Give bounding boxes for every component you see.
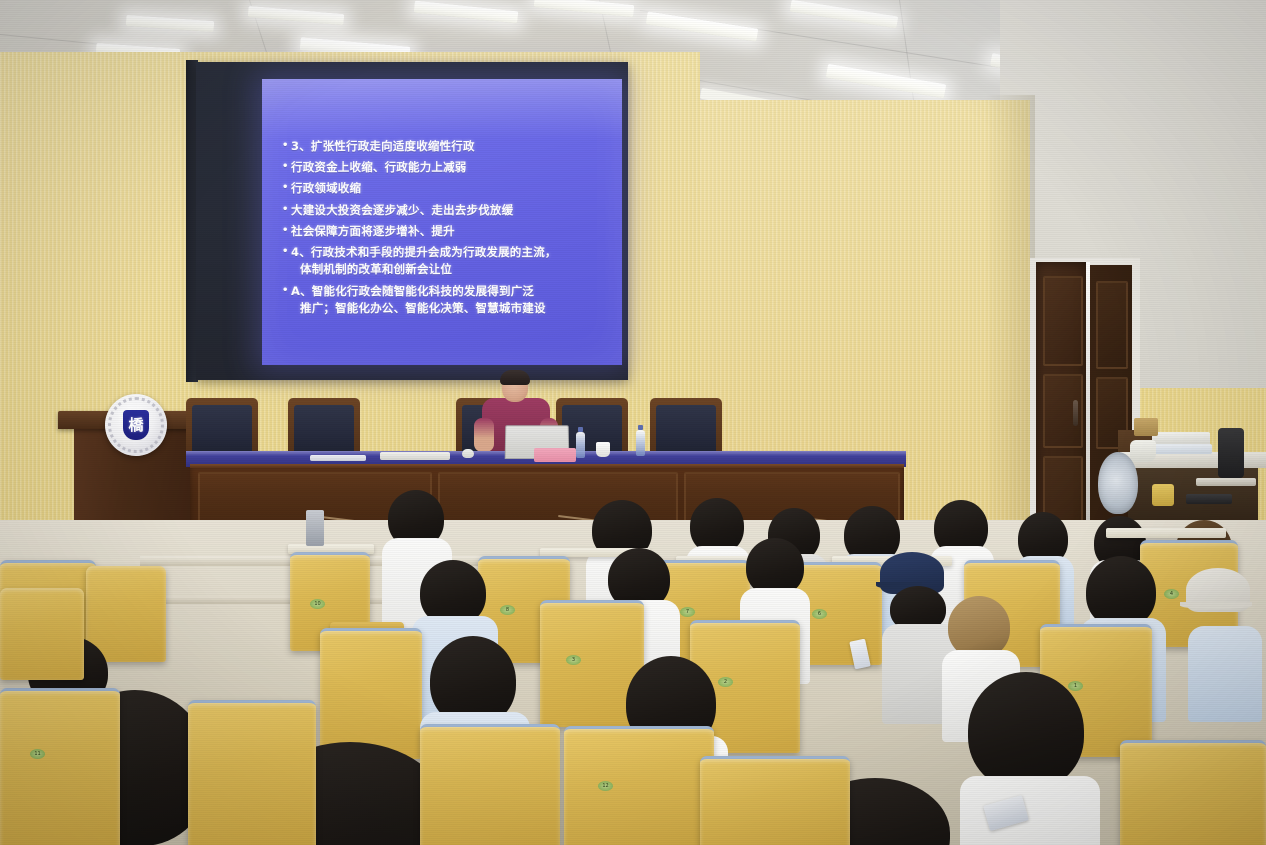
slide-bullet: • 大建设大投资会逐步减少、走出去步伐放缓 <box>282 203 614 218</box>
shelf-item <box>1186 494 1232 504</box>
wall-corner-shadow <box>985 95 1035 525</box>
bullet-dot-icon: • <box>282 284 291 299</box>
seat-number-sticker: 2 <box>718 677 733 687</box>
seat-number-sticker: 3 <box>566 655 581 665</box>
lecture-hall-photo: • 3、扩张性行政走向适度收缩性行政 • 行政资金上收缩、行政能力上减弱 • 行… <box>0 0 1266 845</box>
desk-paper <box>380 452 450 460</box>
university-emblem: 橋 <box>105 394 167 456</box>
torso <box>960 776 1100 845</box>
door-handle[interactable] <box>1073 400 1078 426</box>
auditorium-seat: 12 <box>564 726 714 845</box>
auditorium-seat <box>0 588 84 680</box>
floor-fan <box>1098 452 1138 514</box>
slide-bullet-continuation: • 推广；智能化办公、智能化决策、智慧城市建设 <box>282 301 614 316</box>
desk-monitor <box>306 510 324 546</box>
bullet-dot-icon: • <box>282 245 291 260</box>
auditorium-seat: 11 <box>0 688 120 845</box>
seat-desk <box>1106 528 1226 538</box>
seat-number-sticker: 6 <box>812 609 827 619</box>
speaker-arm-left <box>474 418 494 452</box>
auditorium-seat <box>1120 740 1266 845</box>
torso <box>1188 626 1262 722</box>
emblem-ring: 橋 <box>108 397 164 453</box>
door-panel <box>1096 281 1128 369</box>
bullet-dot-icon: • <box>282 224 291 239</box>
seat-number-sticker: 11 <box>30 749 45 759</box>
slide-content: • 3、扩张性行政走向适度收缩性行政 • 行政资金上收缩、行政能力上减弱 • 行… <box>282 139 614 322</box>
slide-bullet: • A、智能化行政会随智能化科技的发展得到广泛 <box>282 284 614 299</box>
slide-bullet: • 3、扩张性行政走向适度收缩性行政 <box>282 139 614 154</box>
seat-number-sticker: 8 <box>500 605 515 615</box>
seat-number-sticker: 1 <box>1068 681 1083 691</box>
pink-notebook <box>534 448 576 462</box>
hat-brim <box>1180 602 1252 609</box>
seat-number-sticker: 4 <box>1164 589 1179 599</box>
bullet-dot-icon: • <box>282 139 291 154</box>
seat-number-sticker: 10 <box>310 599 325 609</box>
computer-mouse[interactable] <box>462 449 474 458</box>
auditorium-seat <box>188 700 316 845</box>
door-gap-light <box>1086 262 1090 558</box>
audio-speaker-box <box>1218 428 1244 478</box>
projection-screen: • 3、扩张性行政走向适度收缩性行政 • 行政资金上收缩、行政能力上减弱 • 行… <box>262 79 622 365</box>
slide-bullet-continuation: • 体制机制的改革和创新会让位 <box>282 262 614 277</box>
head-hair <box>948 596 1010 658</box>
seat-number-sticker: 7 <box>680 607 695 617</box>
seat-number-sticker: 12 <box>598 781 613 791</box>
paper-cup <box>596 442 610 457</box>
slide-bullet: • 行政领域收缩 <box>282 181 614 196</box>
emblem-shield: 橋 <box>123 410 149 440</box>
slide-bullet: • 行政资金上收缩、行政能力上减弱 <box>282 160 614 175</box>
bullet-dot-icon: • <box>282 181 291 196</box>
desk-paper <box>310 455 366 461</box>
door-panel <box>1043 276 1083 366</box>
bullet-dot-icon: • <box>282 160 291 175</box>
head-hair <box>968 672 1084 790</box>
plastic-bag <box>1130 440 1156 462</box>
yellow-bag <box>1152 484 1174 506</box>
head-table-edge <box>190 464 904 468</box>
slide-bullet: • 4、行政技术和手段的提升会成为行政发展的主流， <box>282 245 614 260</box>
slide-bullet: • 社会保障方面将逐步增补、提升 <box>282 224 614 239</box>
speaker-hair <box>500 370 530 385</box>
shelf-item <box>1196 478 1256 486</box>
auditorium-seat <box>320 628 422 759</box>
auditorium-seat <box>420 724 560 845</box>
water-bottle <box>636 430 645 456</box>
screen-glare <box>262 79 622 139</box>
cardboard-box <box>1134 418 1158 436</box>
bullet-dot-icon: • <box>282 203 291 218</box>
water-bottle <box>576 432 585 458</box>
auditorium-seat <box>700 756 850 845</box>
